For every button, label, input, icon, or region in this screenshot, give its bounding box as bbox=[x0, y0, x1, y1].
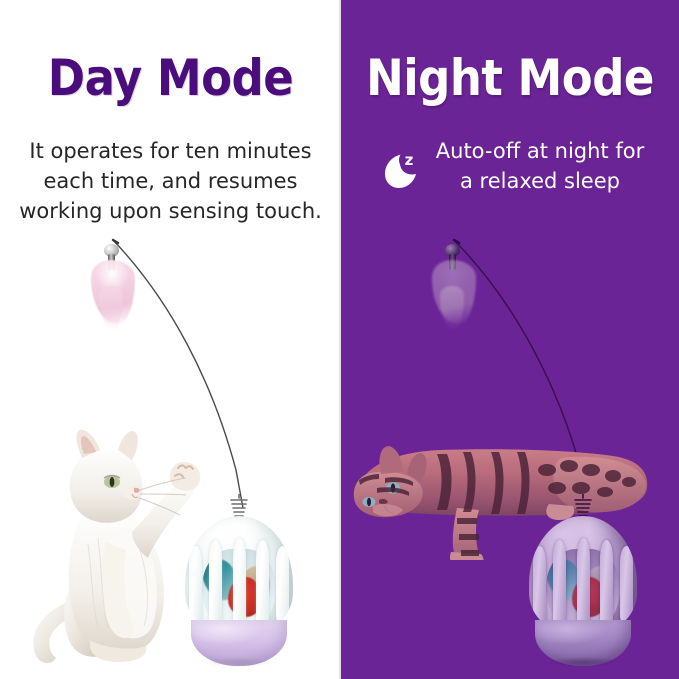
day-cat-toy-device bbox=[185, 516, 293, 666]
toy-shadow bbox=[185, 654, 293, 670]
toy-dome bbox=[529, 516, 637, 634]
day-mode-heading: Day Mode bbox=[0, 50, 341, 106]
cat-ear-left bbox=[379, 446, 403, 474]
night-mode-description: Auto-off at night fora relaxed sleep bbox=[436, 136, 644, 196]
feature-comparison-graphic: Day Mode It operates for ten minuteseach… bbox=[0, 0, 679, 679]
toy-ribs bbox=[529, 516, 637, 634]
panel-divider bbox=[339, 0, 341, 679]
toy-shadow bbox=[529, 654, 637, 670]
night-cat-toy-device bbox=[529, 516, 637, 666]
toy-ribs bbox=[185, 516, 293, 634]
day-mode-panel: Day Mode It operates for ten minuteseach… bbox=[0, 0, 341, 679]
toy-dome bbox=[185, 516, 293, 634]
night-mode-description-row: z Auto-off at night fora relaxed sleep bbox=[341, 136, 679, 196]
night-mode-panel: Night Mode z Auto-off at night fora rela… bbox=[341, 0, 679, 679]
day-mode-description: It operates for ten minuteseach time, an… bbox=[0, 136, 341, 226]
day-feather-teaser bbox=[91, 246, 135, 324]
night-feather-teaser bbox=[432, 246, 476, 324]
night-mode-heading: Night Mode bbox=[341, 50, 679, 106]
moon-icon-letter: z bbox=[404, 151, 413, 169]
crescent-moon-with-z-icon: z bbox=[376, 143, 422, 189]
